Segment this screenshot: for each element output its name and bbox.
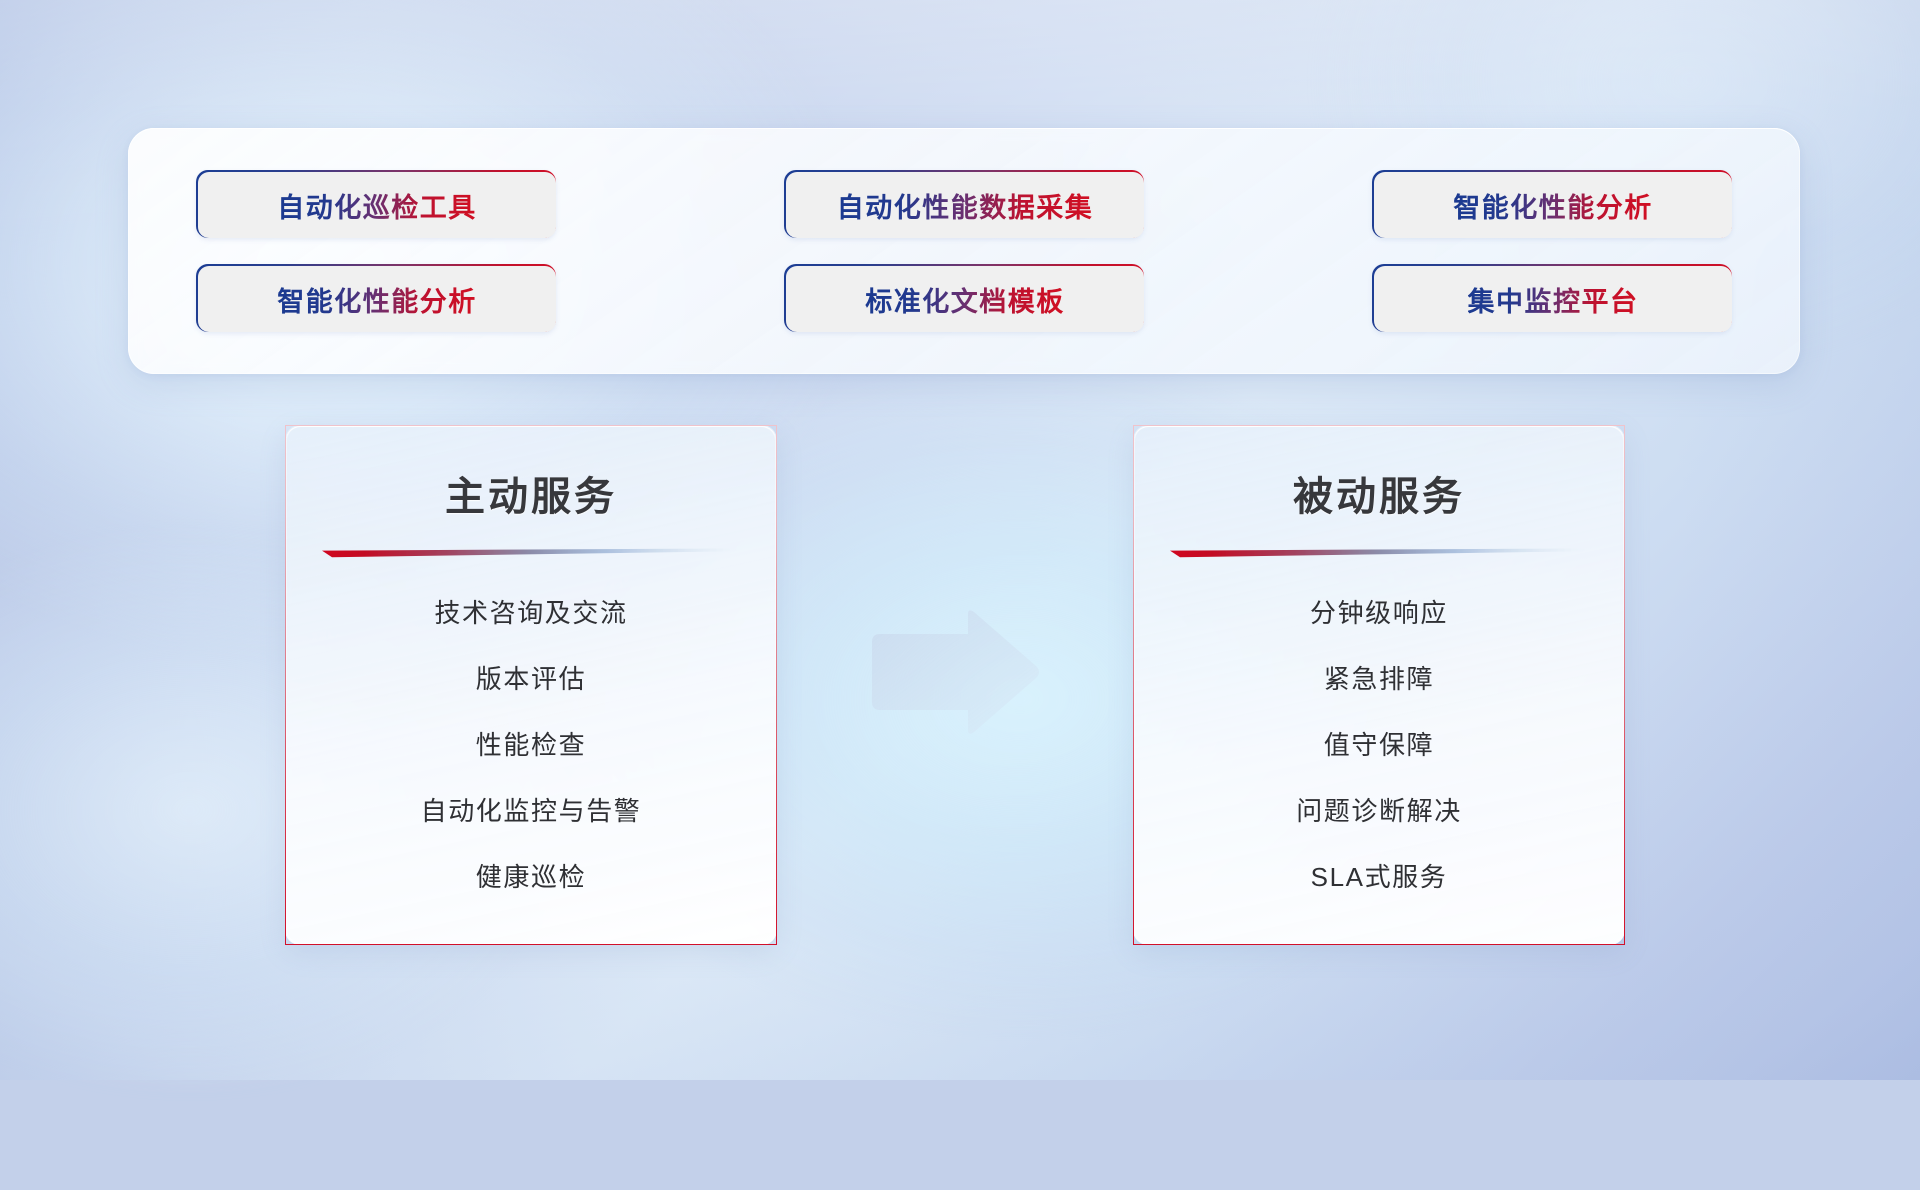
service-card-proactive-title: 主动服务	[286, 464, 776, 522]
service-item: 分钟级响应	[1310, 593, 1448, 630]
service-item: SLA式服务	[1311, 857, 1448, 894]
service-item: 版本评估	[476, 659, 586, 696]
service-item: 值守保障	[1324, 725, 1434, 762]
service-item: 技术咨询及交流	[434, 593, 627, 630]
capability-pill-6[interactable]: 集中监控平台	[1372, 264, 1732, 332]
capability-pill-2-body[interactable]: 自动化性能数据采集	[786, 172, 1144, 238]
capability-pill-3-body[interactable]: 智能化性能分析	[1374, 172, 1732, 238]
capability-pill-6-body[interactable]: 集中监控平台	[1374, 266, 1732, 332]
capability-pill-2-label: 自动化性能数据采集	[837, 186, 1094, 225]
capability-pill-2[interactable]: 自动化性能数据采集	[784, 170, 1144, 238]
service-item: 紧急排障	[1324, 659, 1434, 696]
capability-pill-1-body[interactable]: 自动化巡检工具	[198, 172, 556, 238]
service-item: 问题诊断解决	[1296, 791, 1462, 828]
service-card-reactive: 被动服务 分钟级响应 紧急排障	[1133, 425, 1625, 945]
capability-panel: 自动化巡检工具 自动化性能数据采集 智能化性能分析 智能化性能分析 标准化文档模…	[128, 128, 1800, 374]
service-card-reactive-title: 被动服务	[1134, 464, 1624, 522]
capability-pill-3-label: 智能化性能分析	[1453, 186, 1653, 225]
capability-pill-3[interactable]: 智能化性能分析	[1372, 170, 1732, 238]
capability-pill-6-label: 集中监控平台	[1468, 280, 1639, 319]
service-item: 性能检查	[476, 725, 586, 762]
service-card-proactive-list: 技术咨询及交流 版本评估 性能检查 自动化监控与告警 健康巡检	[286, 559, 776, 894]
capability-pill-5-body[interactable]: 标准化文档模板	[786, 266, 1144, 332]
capability-pill-5[interactable]: 标准化文档模板	[784, 264, 1144, 332]
capability-pill-4-label: 智能化性能分析	[277, 280, 477, 319]
title-divider-reactive	[1170, 548, 1588, 559]
capability-pill-5-label: 标准化文档模板	[865, 280, 1065, 319]
capability-pill-1[interactable]: 自动化巡检工具	[196, 170, 556, 238]
title-divider-proactive	[322, 548, 740, 559]
capability-pill-4-body[interactable]: 智能化性能分析	[198, 266, 556, 332]
capability-row-1: 自动化巡检工具 自动化性能数据采集 智能化性能分析	[196, 170, 1732, 238]
service-card-proactive: 主动服务 技术咨询及交流 版本评估	[285, 425, 777, 945]
service-item: 自动化监控与告警	[421, 791, 642, 828]
capability-pill-4[interactable]: 智能化性能分析	[196, 264, 556, 332]
right-arrow-icon	[866, 608, 1042, 736]
service-item: 健康巡检	[476, 857, 586, 894]
capability-pill-1-label: 自动化巡检工具	[277, 186, 477, 225]
service-card-reactive-list: 分钟级响应 紧急排障 值守保障 问题诊断解决 SLA式服务	[1134, 559, 1624, 894]
capability-row-2: 智能化性能分析 标准化文档模板 集中监控平台	[196, 264, 1732, 332]
